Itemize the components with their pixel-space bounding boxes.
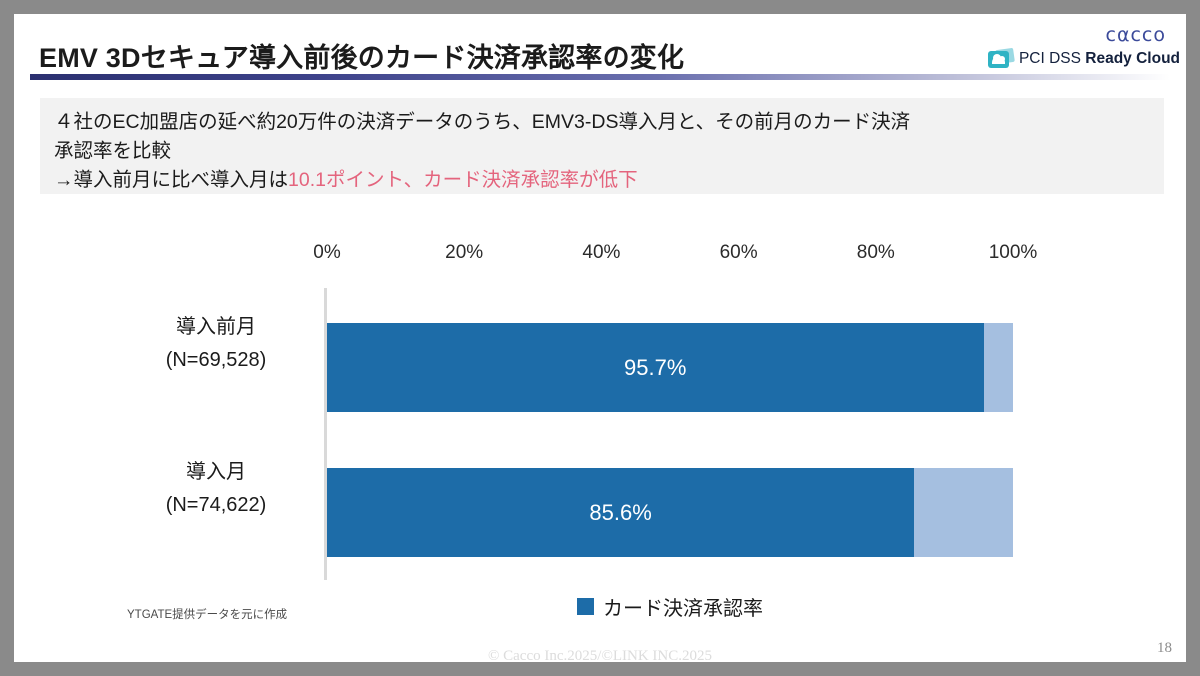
bar-chart: 0% 20% 40% 60% 80% 100% 導入前月 (N=69,528) … <box>14 210 1186 630</box>
category-name-1: 導入月 <box>126 456 306 489</box>
chart-legend: カード決済承認率 <box>327 592 1013 621</box>
x-tick-40: 40% <box>582 242 620 264</box>
legend-label: カード決済承認率 <box>603 592 763 621</box>
x-tick-80: 80% <box>857 242 895 264</box>
legend-swatch-icon <box>577 598 594 615</box>
bar-segment-remainder-0[interactable] <box>984 323 1013 412</box>
x-tick-60: 60% <box>720 242 758 264</box>
category-label-0: 導入前月 (N=69,528) <box>126 311 306 377</box>
logo-text-light: PCI DSS <box>1019 50 1085 67</box>
slide: EMV 3Dセキュア導入前後のカード決済承認率の変化 cαcco PCI DSS… <box>14 14 1186 662</box>
description-highlight: 10.1ポイント、カード決済承認率が低下 <box>288 169 638 191</box>
logo-wordmark: cαcco <box>1106 24 1167 46</box>
brand-logo: cαcco PCI DSS Ready Cloud <box>980 24 1180 76</box>
x-tick-20: 20% <box>445 242 483 264</box>
description-line-3: →導入前月に比べ導入月は10.1ポイント、カード決済承認率が低下 <box>54 166 1150 195</box>
bar-row: 85.6% <box>327 468 1013 557</box>
source-note: YTGATE提供データを元に作成 <box>127 606 287 622</box>
bar-value-label-0: 95.7% <box>624 355 686 381</box>
slide-header: EMV 3Dセキュア導入前後のカード決済承認率の変化 cαcco PCI DSS… <box>14 14 1186 92</box>
category-name-0: 導入前月 <box>126 311 306 344</box>
page-title: EMV 3Dセキュア導入前後のカード決済承認率の変化 <box>39 36 684 75</box>
x-tick-0: 0% <box>313 242 340 264</box>
description-line-2: 承認率を比較 <box>54 137 1150 166</box>
bar-segment-primary-0[interactable]: 95.7% <box>327 323 984 412</box>
bar-segment-remainder-1[interactable] <box>914 468 1013 557</box>
category-count-0: (N=69,528) <box>126 344 306 377</box>
cloud-card-icon <box>988 48 1014 70</box>
bar-row: 95.7% <box>327 323 1013 412</box>
plot-area: 95.7% 85.6% <box>327 306 1013 574</box>
category-count-1: (N=74,622) <box>126 489 306 522</box>
bar-segment-primary-1[interactable]: 85.6% <box>327 468 914 557</box>
category-label-1: 導入月 (N=74,622) <box>126 456 306 522</box>
description-box: ４社のEC加盟店の延べ約20万件の決済データのうち、EMV3-DS導入月と、その… <box>40 98 1164 194</box>
bar-value-label-1: 85.6% <box>589 500 651 526</box>
logo-lockup: PCI DSS Ready Cloud <box>988 48 1180 70</box>
logo-text-bold: Ready Cloud <box>1085 50 1180 67</box>
logo-product-name: PCI DSS Ready Cloud <box>1019 50 1180 68</box>
x-tick-100: 100% <box>989 242 1038 264</box>
description-line-3-prefix: →導入前月に比べ導入月は <box>54 169 288 191</box>
x-axis-tick-labels: 0% 20% 40% 60% 80% 100% <box>327 242 1013 264</box>
description-line-1: ４社のEC加盟店の延べ約20万件の決済データのうち、EMV3-DS導入月と、その… <box>54 108 1150 137</box>
page-number: 18 <box>1157 640 1172 657</box>
copyright-text: © Cacco Inc.2025/©LINK INC.2025 <box>14 648 1186 662</box>
